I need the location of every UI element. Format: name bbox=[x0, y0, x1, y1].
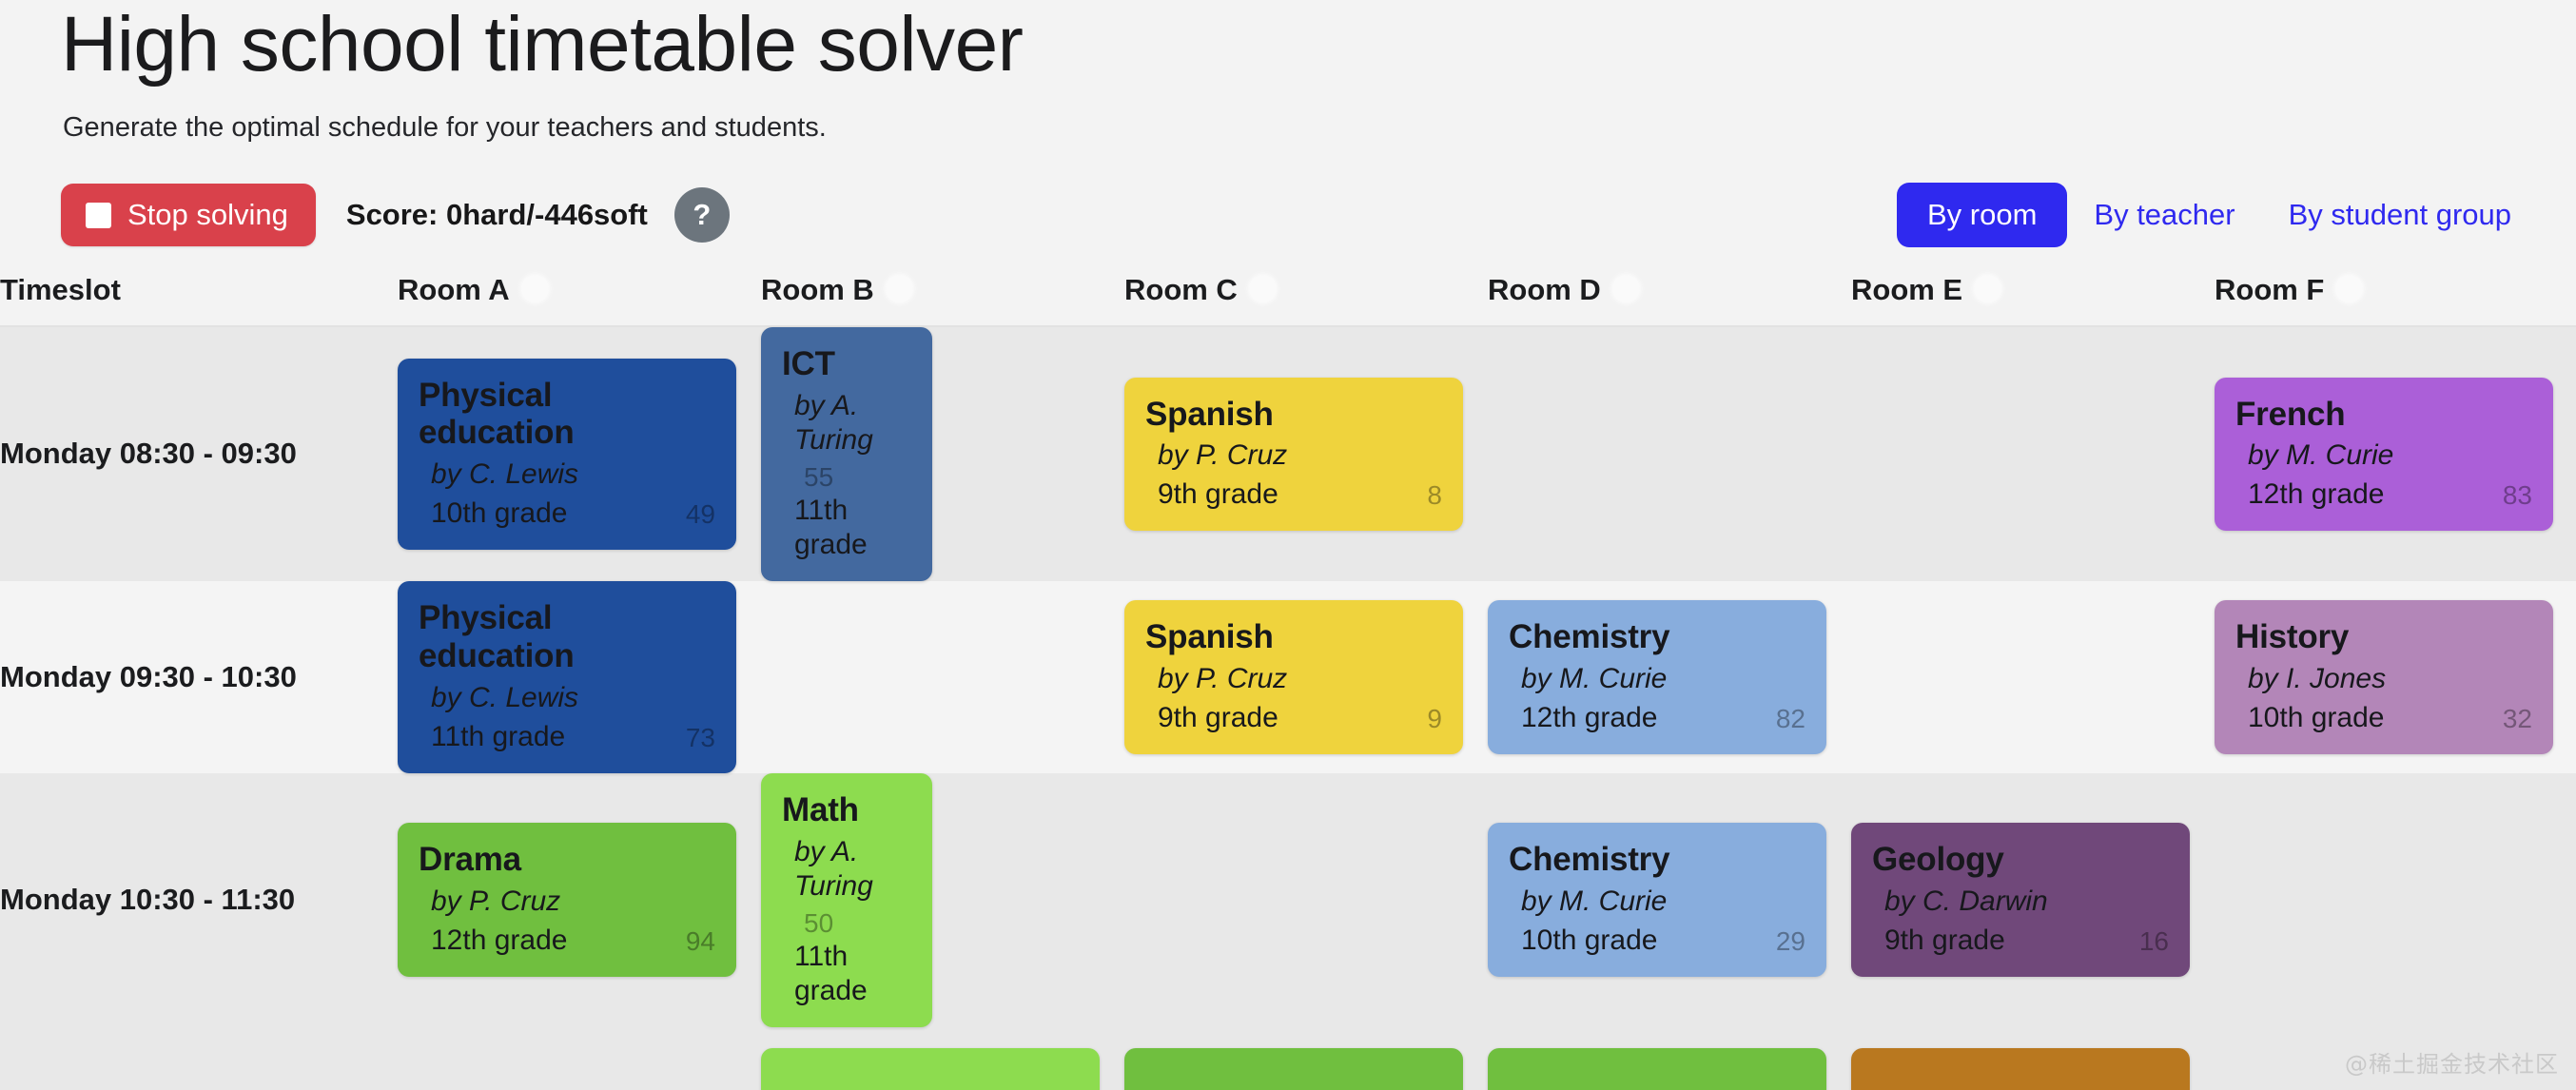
lesson-card[interactable] bbox=[761, 1048, 1100, 1090]
room-badge-icon bbox=[1613, 276, 1639, 302]
room-a-label: Room A bbox=[398, 273, 510, 307]
score-label: Score: 0hard/-446soft bbox=[346, 198, 648, 232]
timeslot-cell bbox=[0, 1027, 398, 1090]
lesson-teacher: by P. Cruz bbox=[1145, 662, 1442, 696]
lesson-subject: History bbox=[2235, 618, 2532, 656]
lesson-slot: Historyby I. Jones10th grade32 bbox=[2215, 581, 2576, 773]
lesson-card[interactable]: Frenchby M. Curie12th grade83 bbox=[2215, 378, 2553, 532]
lesson-slot bbox=[1851, 581, 2215, 773]
lesson-card[interactable]: Chemistryby M. Curie12th grade82 bbox=[1488, 600, 1826, 754]
lesson-subject: Math bbox=[782, 791, 911, 829]
lesson-id-number: 9 bbox=[1427, 704, 1442, 735]
table-row: Monday 10:30 - 11:30Dramaby P. Cruz12th … bbox=[0, 773, 2576, 1027]
lesson-slot: Geologyby C. Darwin9th grade16 bbox=[1851, 773, 2215, 1027]
stop-square-icon bbox=[86, 203, 111, 228]
lesson-slot bbox=[1488, 326, 1851, 581]
lesson-student-group: 9th grade bbox=[1158, 701, 1417, 735]
lesson-slot: Spanishby P. Cruz9th grade9 bbox=[1124, 581, 1488, 773]
lesson-slot: Mathby A. Turing11th grade50 bbox=[761, 773, 1124, 1027]
lesson-id-number: 82 bbox=[1776, 704, 1805, 735]
lesson-slot bbox=[398, 1027, 761, 1090]
room-badge-icon bbox=[887, 276, 912, 302]
lesson-id-number: 83 bbox=[2503, 480, 2532, 512]
lesson-grade-row: 11th grade50 bbox=[782, 908, 911, 1008]
timeslot-cell: Monday 09:30 - 10:30 bbox=[0, 581, 398, 773]
room-e-label: Room E bbox=[1851, 273, 1962, 307]
lesson-card[interactable]: Dramaby P. Cruz12th grade94 bbox=[398, 823, 736, 977]
room-badge-icon bbox=[1975, 276, 2000, 302]
lesson-teacher: by C. Lewis bbox=[419, 681, 715, 715]
lesson-slot bbox=[1851, 326, 2215, 581]
table-row: Monday 08:30 - 09:30Physical educationby… bbox=[0, 326, 2576, 581]
lesson-slot: Physical educationby C. Lewis10th grade4… bbox=[398, 326, 761, 581]
lesson-subject: Physical education bbox=[419, 599, 715, 675]
timeslot-cell: Monday 10:30 - 11:30 bbox=[0, 773, 398, 1027]
column-header-room-a[interactable]: Room A bbox=[398, 273, 761, 326]
tab-by-teacher[interactable]: By teacher bbox=[2067, 183, 2261, 247]
lesson-slot bbox=[1488, 1027, 1851, 1090]
lesson-student-group: 12th grade bbox=[431, 924, 676, 958]
lesson-teacher: by C. Darwin bbox=[1872, 885, 2169, 919]
lesson-subject: Chemistry bbox=[1509, 841, 1805, 879]
lesson-student-group: 10th grade bbox=[1521, 924, 1766, 958]
lesson-subject: Spanish bbox=[1145, 618, 1442, 656]
column-header-room-e[interactable]: Room E bbox=[1851, 273, 2215, 326]
lesson-grade-row: 10th grade32 bbox=[2235, 701, 2532, 735]
lesson-student-group: 11th grade bbox=[794, 494, 911, 562]
lesson-teacher: by A. Turing bbox=[782, 389, 911, 457]
page-title: High school timetable solver bbox=[61, 0, 2576, 84]
lesson-card[interactable] bbox=[1851, 1048, 2190, 1090]
stop-solving-button[interactable]: Stop solving bbox=[61, 184, 316, 246]
tab-by-room[interactable]: By room bbox=[1897, 183, 2067, 247]
lesson-grade-row: 11th grade55 bbox=[782, 462, 911, 562]
room-badge-icon bbox=[2336, 276, 2362, 302]
lesson-subject: French bbox=[2235, 396, 2532, 434]
lesson-grade-row: 9th grade16 bbox=[1872, 924, 2169, 958]
column-header-room-f[interactable]: Room F bbox=[2215, 273, 2576, 326]
lesson-id-number: 29 bbox=[1776, 926, 1805, 958]
lesson-subject: Spanish bbox=[1145, 396, 1442, 434]
lesson-student-group: 10th grade bbox=[2248, 701, 2493, 735]
column-header-room-d[interactable]: Room D bbox=[1488, 273, 1851, 326]
stop-solving-label: Stop solving bbox=[127, 198, 288, 232]
lesson-slot: Chemistryby M. Curie12th grade82 bbox=[1488, 581, 1851, 773]
lesson-id-number: 8 bbox=[1427, 480, 1442, 512]
lesson-grade-row: 10th grade49 bbox=[419, 496, 715, 531]
lesson-slot bbox=[2215, 1027, 2576, 1090]
lesson-slot bbox=[1124, 773, 1488, 1027]
lesson-card[interactable]: Mathby A. Turing11th grade50 bbox=[761, 773, 932, 1027]
lesson-card[interactable]: Chemistryby M. Curie10th grade29 bbox=[1488, 823, 1826, 977]
lesson-teacher: by P. Cruz bbox=[1145, 438, 1442, 473]
lesson-id-number: 94 bbox=[686, 926, 715, 958]
timetable-body: Monday 08:30 - 09:30Physical educationby… bbox=[0, 326, 2576, 1090]
lesson-card[interactable]: Spanishby P. Cruz9th grade9 bbox=[1124, 600, 1463, 754]
lesson-slot: Dramaby P. Cruz12th grade94 bbox=[398, 773, 761, 1027]
page-header: High school timetable solver Generate th… bbox=[0, 0, 2576, 144]
app-page: High school timetable solver Generate th… bbox=[0, 0, 2576, 1090]
lesson-slot: Spanishby P. Cruz9th grade8 bbox=[1124, 326, 1488, 581]
lesson-card[interactable]: Historyby I. Jones10th grade32 bbox=[2215, 600, 2553, 754]
table-row: Monday 09:30 - 10:30Physical educationby… bbox=[0, 581, 2576, 773]
lesson-id-number: 73 bbox=[686, 723, 715, 754]
table-row bbox=[0, 1027, 2576, 1090]
lesson-subject: Chemistry bbox=[1509, 618, 1805, 656]
lesson-card[interactable] bbox=[1124, 1048, 1463, 1090]
room-d-label: Room D bbox=[1488, 273, 1601, 307]
lesson-slot bbox=[761, 581, 1124, 773]
lesson-subject: ICT bbox=[782, 345, 911, 383]
room-badge-icon bbox=[522, 276, 548, 302]
lesson-slot bbox=[761, 1027, 1124, 1090]
lesson-id-number: 50 bbox=[804, 908, 833, 940]
lesson-student-group: 9th grade bbox=[1884, 924, 2130, 958]
lesson-slot bbox=[1124, 1027, 1488, 1090]
lesson-card[interactable]: ICTby A. Turing11th grade55 bbox=[761, 327, 932, 581]
lesson-student-group: 12th grade bbox=[1521, 701, 1766, 735]
lesson-slot: ICTby A. Turing11th grade55 bbox=[761, 326, 1124, 581]
lesson-teacher: by C. Lewis bbox=[419, 457, 715, 492]
lesson-id-number: 32 bbox=[2503, 704, 2532, 735]
timeslot-cell: Monday 08:30 - 09:30 bbox=[0, 326, 398, 581]
lesson-slot: Chemistryby M. Curie10th grade29 bbox=[1488, 773, 1851, 1027]
room-f-label: Room F bbox=[2215, 273, 2324, 307]
lesson-card[interactable]: Spanishby P. Cruz9th grade8 bbox=[1124, 378, 1463, 532]
room-c-label: Room C bbox=[1124, 273, 1238, 307]
timetable-container: Timeslot Room A Room B bbox=[0, 273, 2576, 1090]
column-header-timeslot: Timeslot bbox=[0, 273, 398, 326]
lesson-grade-row: 12th grade94 bbox=[419, 924, 715, 958]
lesson-teacher: by M. Curie bbox=[2235, 438, 2532, 473]
lesson-id-number: 16 bbox=[2139, 926, 2169, 958]
lesson-card[interactable]: Physical educationby C. Lewis11th grade7… bbox=[398, 581, 736, 773]
lesson-slot bbox=[1851, 1027, 2215, 1090]
lesson-student-group: 11th grade bbox=[431, 720, 676, 754]
lesson-teacher: by M. Curie bbox=[1509, 662, 1805, 696]
lesson-slot bbox=[2215, 773, 2576, 1027]
lesson-grade-row: 12th grade83 bbox=[2235, 477, 2532, 512]
lesson-student-group: 11th grade bbox=[794, 940, 911, 1008]
lesson-grade-row: 12th grade82 bbox=[1509, 701, 1805, 735]
room-b-label: Room B bbox=[761, 273, 874, 307]
lesson-id-number: 55 bbox=[804, 462, 833, 494]
lesson-teacher: by I. Jones bbox=[2235, 662, 2532, 696]
lesson-card[interactable] bbox=[1488, 1048, 1826, 1090]
timetable-head: Timeslot Room A Room B bbox=[0, 273, 2576, 326]
timetable: Timeslot Room A Room B bbox=[0, 273, 2576, 1090]
page-subtitle: Generate the optimal schedule for your t… bbox=[63, 112, 2576, 144]
tab-by-student-group[interactable]: By student group bbox=[2262, 183, 2538, 247]
lesson-student-group: 10th grade bbox=[431, 496, 676, 531]
timetable-header-row: Timeslot Room A Room B bbox=[0, 273, 2576, 326]
lesson-slot: Frenchby M. Curie12th grade83 bbox=[2215, 326, 2576, 581]
lesson-subject: Geology bbox=[1872, 841, 2169, 879]
lesson-grade-row: 10th grade29 bbox=[1509, 924, 1805, 958]
lesson-id-number: 49 bbox=[686, 499, 715, 531]
column-header-room-b[interactable]: Room B bbox=[761, 273, 1124, 326]
toolbar-left-group: Stop solving Score: 0hard/-446soft ? bbox=[61, 184, 730, 246]
lesson-student-group: 9th grade bbox=[1158, 477, 1417, 512]
lesson-subject: Drama bbox=[419, 841, 715, 879]
lesson-card[interactable]: Geologyby C. Darwin9th grade16 bbox=[1851, 823, 2190, 977]
column-header-room-c[interactable]: Room C bbox=[1124, 273, 1488, 326]
lesson-slot: Physical educationby C. Lewis11th grade7… bbox=[398, 581, 761, 773]
lesson-grade-row: 9th grade8 bbox=[1145, 477, 1442, 512]
help-question-mark-button[interactable]: ? bbox=[674, 187, 730, 243]
lesson-teacher: by A. Turing bbox=[782, 835, 911, 904]
lesson-teacher: by M. Curie bbox=[1509, 885, 1805, 919]
room-badge-icon bbox=[1250, 276, 1276, 302]
lesson-teacher: by P. Cruz bbox=[419, 885, 715, 919]
toolbar: Stop solving Score: 0hard/-446soft ? By … bbox=[0, 178, 2576, 252]
lesson-grade-row: 11th grade73 bbox=[419, 720, 715, 754]
lesson-grade-row: 9th grade9 bbox=[1145, 701, 1442, 735]
lesson-student-group: 12th grade bbox=[2248, 477, 2493, 512]
lesson-card[interactable]: Physical educationby C. Lewis10th grade4… bbox=[398, 359, 736, 551]
view-switcher: By room By teacher By student group bbox=[1897, 183, 2538, 247]
lesson-subject: Physical education bbox=[419, 377, 715, 453]
